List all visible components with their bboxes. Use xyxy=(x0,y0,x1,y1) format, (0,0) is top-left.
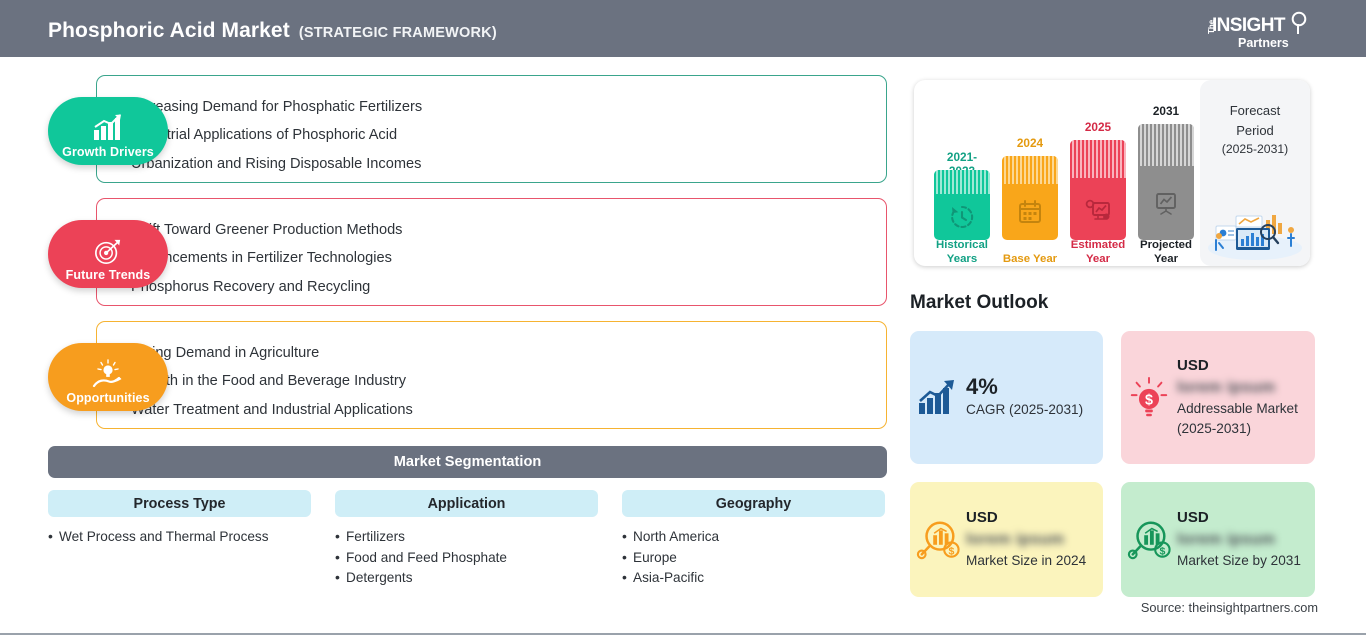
page-title: Phosphoric Acid Market (STRATEGIC FRAMEW… xyxy=(48,19,497,43)
timeline-caption: Projected Year xyxy=(1132,239,1200,266)
opportunities-list: Rising Demand in Agriculture Growth in t… xyxy=(97,322,886,441)
analytics-gear-icon xyxy=(1085,196,1111,222)
timeline-bar-estimated: 2025 Estimated Year xyxy=(1070,104,1126,266)
infographic-page: Phosphoric Acid Market (STRATEGIC FRAMEW… xyxy=(0,0,1366,635)
market-segmentation-title: Market Segmentation xyxy=(394,454,542,470)
segment-list: Wet Process and Thermal Process xyxy=(48,527,311,548)
segment-column-application: Application Fertilizers Food and Feed Ph… xyxy=(335,490,598,589)
section-growth-drivers: Increasing Demand for Phosphatic Fertili… xyxy=(0,75,900,185)
timeline-year-label: 2024 xyxy=(1002,136,1058,150)
opportunities-badge-label: Opportunities xyxy=(66,392,149,405)
growth-drivers-list: Increasing Demand for Phosphatic Fertili… xyxy=(97,76,886,195)
bulb-dollar-icon: $ xyxy=(1121,376,1177,420)
market-segmentation-header: Market Segmentation xyxy=(48,446,887,478)
timeline-caption: Historical Years xyxy=(928,239,996,266)
forecast-years: (2025-2031) xyxy=(1200,140,1310,160)
bar-stripe-top xyxy=(1070,140,1126,178)
timeline-bar-fill xyxy=(1138,124,1194,240)
forecast-line-1: Forecast xyxy=(1200,101,1310,121)
forecast-line-2: Period xyxy=(1200,121,1310,141)
forecast-period-text: Forecast Period (2025-2031) xyxy=(1200,101,1310,160)
timeline-caption-text: Historical Years xyxy=(936,239,988,265)
bar-stripe-top xyxy=(1002,156,1058,184)
segment-column-geography: Geography North America Europe Asia-Paci… xyxy=(622,490,885,589)
timeline-bars: 2021-2023 Historical Years xyxy=(928,80,1188,266)
bar-solid-body xyxy=(1002,184,1058,240)
study-timeline-card: 2021-2023 Historical Years xyxy=(914,80,1310,266)
source-attribution: Source: theinsightpartners.com xyxy=(1141,600,1318,615)
list-item: Shift Toward Greener Production Methods xyxy=(117,216,886,244)
timeline-caption-text: Projected Year xyxy=(1140,239,1192,265)
growth-chart-icon xyxy=(910,379,966,417)
opportunities-panel: Rising Demand in Agriculture Growth in t… xyxy=(96,321,887,429)
market-segmentation-columns: Process Type Wet Process and Thermal Pro… xyxy=(48,490,887,589)
bar-solid-body xyxy=(1138,166,1194,240)
outlook-card-body: USD lorem ipsum Addressable Market (2025… xyxy=(1177,356,1315,440)
data-analysis-illustration xyxy=(1206,198,1304,260)
logo-partners-text: Partners xyxy=(1238,36,1289,50)
opportunities-badge[interactable]: Opportunities xyxy=(48,343,168,411)
segment-title: Geography xyxy=(622,490,885,517)
timeline-bar-projected: 2031 Projected Year xyxy=(1138,104,1194,266)
blurred-value: lorem ipsum xyxy=(1177,528,1307,551)
list-item: Phosphorus Recovery and Recycling xyxy=(117,273,886,301)
segment-list: Fertilizers Food and Feed Phosphate Dete… xyxy=(335,527,598,589)
bar-stripe-top xyxy=(934,170,990,194)
insight-partners-logo: The INSIGHT Partners xyxy=(1198,8,1310,52)
timeline-bar-fill xyxy=(934,170,990,240)
bar-stripe-top xyxy=(1138,124,1194,166)
timeline-caption-text: Estimated Year xyxy=(1071,239,1125,265)
page-title-subtitle: (STRATEGIC FRAMEWORK) xyxy=(299,25,497,41)
list-item: Europe xyxy=(622,548,885,569)
cagr-value: 4% xyxy=(966,374,1095,400)
svg-text:$: $ xyxy=(1159,545,1165,557)
list-item: Detergents xyxy=(335,568,598,589)
list-item: Asia-Pacific xyxy=(622,568,885,589)
addressable-market-caption: Addressable Market (2025-2031) xyxy=(1177,399,1307,440)
magnifier-chart-dollar-icon: $ xyxy=(910,518,966,562)
outlook-card-addressable-market: $ USD lorem ipsum Addressable Market (20… xyxy=(1121,331,1315,464)
list-item: Fertilizers xyxy=(335,527,598,548)
timeline-caption: Base Year xyxy=(996,253,1064,267)
outlook-card-body: 4% CAGR (2025-2031) xyxy=(966,374,1103,421)
cagr-caption: CAGR (2025-2031) xyxy=(966,400,1095,421)
history-clock-icon xyxy=(949,204,975,230)
segment-title: Process Type xyxy=(48,490,311,517)
outlook-card-body: USD lorem ipsum Market Size by 2031 xyxy=(1177,508,1315,572)
bar-solid-body xyxy=(934,194,990,240)
timeline-year-label: 2031 xyxy=(1138,104,1194,118)
segment-list: North America Europe Asia-Pacific xyxy=(622,527,885,589)
page-title-main: Phosphoric Acid Market xyxy=(48,19,290,43)
list-item: Increasing Demand for Phosphatic Fertili… xyxy=(117,93,886,121)
currency-label: USD xyxy=(1177,508,1307,528)
list-item: Rising Demand in Agriculture xyxy=(117,339,886,367)
segment-column-process-type: Process Type Wet Process and Thermal Pro… xyxy=(48,490,311,589)
blurred-value: lorem ipsum xyxy=(1177,376,1307,399)
future-trends-badge[interactable]: Future Trends xyxy=(48,220,168,288)
svg-text:$: $ xyxy=(948,545,954,557)
currency-label: USD xyxy=(966,508,1095,528)
future-trends-panel: Shift Toward Greener Production Methods … xyxy=(96,198,887,306)
timeline-bar-historical: 2021-2023 Historical Years xyxy=(934,104,990,266)
blurred-value: lorem ipsum xyxy=(966,528,1095,551)
list-item: Growth in the Food and Beverage Industry xyxy=(117,367,886,395)
presentation-chart-icon xyxy=(1153,190,1179,216)
list-item: Wet Process and Thermal Process xyxy=(48,527,311,548)
list-item: North America xyxy=(622,527,885,548)
bar-chart-up-icon xyxy=(91,113,125,143)
market-size-2024-caption: Market Size in 2024 xyxy=(966,551,1095,572)
currency-label: USD xyxy=(1177,356,1307,376)
list-item: Food and Feed Phosphate xyxy=(335,548,598,569)
target-dart-icon xyxy=(91,236,125,266)
segment-title: Application xyxy=(335,490,598,517)
calendar-icon xyxy=(1017,199,1043,225)
outlook-card-market-size-2024: $ USD lorem ipsum Market Size in 2024 xyxy=(910,482,1103,597)
list-item: Water Treatment and Industrial Applicati… xyxy=(117,396,886,424)
future-trends-list: Shift Toward Greener Production Methods … xyxy=(97,199,886,318)
outlook-card-market-size-2031: $ USD lorem ipsum Market Size by 2031 xyxy=(1121,482,1315,597)
magnifier-chart-dollar-icon: $ xyxy=(1121,518,1177,562)
market-size-2031-caption: Market Size by 2031 xyxy=(1177,551,1307,572)
list-item: Urbanization and Rising Disposable Incom… xyxy=(117,150,886,178)
page-header: Phosphoric Acid Market (STRATEGIC FRAMEW… xyxy=(0,0,1366,57)
timeline-caption: Estimated Year xyxy=(1064,239,1132,266)
outlook-card-body: USD lorem ipsum Market Size in 2024 xyxy=(966,508,1103,572)
section-opportunities: Rising Demand in Agriculture Growth in t… xyxy=(0,321,900,431)
outlook-card-cagr: 4% CAGR (2025-2031) xyxy=(910,331,1103,464)
timeline-caption-text: Base Year xyxy=(1003,253,1057,265)
forecast-period-panel: Forecast Period (2025-2031) xyxy=(1200,80,1310,266)
list-item: Industrial Applications of Phosphoric Ac… xyxy=(117,121,886,149)
logo-insight-text: INSIGHT xyxy=(1212,15,1286,36)
market-outlook-title: Market Outlook xyxy=(910,292,1048,314)
svg-text:$: $ xyxy=(1145,392,1153,408)
timeline-bar-fill xyxy=(1002,156,1058,240)
timeline-bar-base: 2024 xyxy=(1002,104,1058,266)
section-future-trends: Shift Toward Greener Production Methods … xyxy=(0,198,900,308)
hand-lightbulb-icon xyxy=(91,359,125,389)
list-item: Advancements in Fertilizer Technologies xyxy=(117,244,886,272)
growth-drivers-badge[interactable]: Growth Drivers xyxy=(48,97,168,165)
timeline-bar-fill xyxy=(1070,140,1126,240)
timeline-year-label: 2025 xyxy=(1070,120,1126,134)
growth-drivers-panel: Increasing Demand for Phosphatic Fertili… xyxy=(96,75,887,183)
bar-solid-body xyxy=(1070,178,1126,240)
growth-drivers-badge-label: Growth Drivers xyxy=(62,146,154,159)
future-trends-badge-label: Future Trends xyxy=(66,269,151,282)
